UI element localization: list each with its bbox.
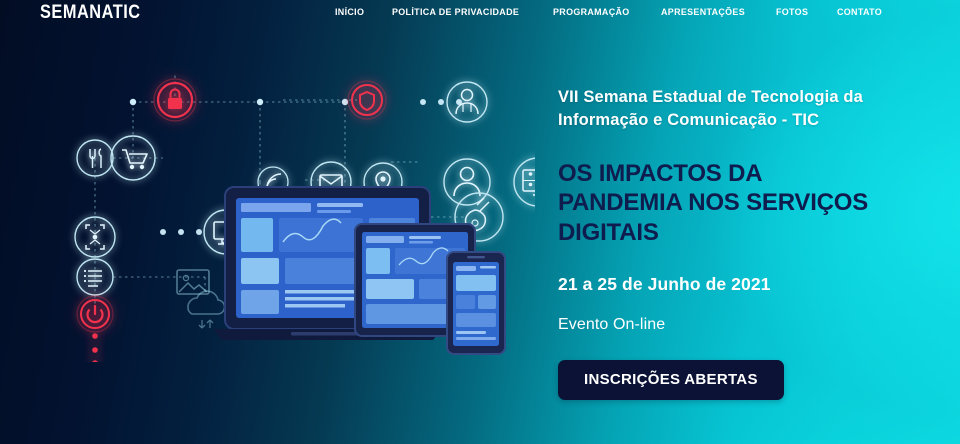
nav-item-politica-de-privacidade[interactable]: POLÍTICA DE PRIVACIDADE xyxy=(392,7,519,18)
nav-item-inicio[interactable]: INÍCIO xyxy=(335,7,364,18)
title-line-3: DIGITAIS xyxy=(558,219,659,246)
hero-text-block: VII Semana Estadual de Tecnologia da Inf… xyxy=(558,86,938,400)
power-dots xyxy=(92,333,98,362)
site-header: SEMANATIC INÍCIO POLÍTICA DE PRIVACIDADE… xyxy=(0,0,960,30)
doctor-icon xyxy=(447,82,487,122)
cloud-icon xyxy=(188,291,225,328)
main-navigation: INÍCIO POLÍTICA DE PRIVACIDADE PROGRAMAÇ… xyxy=(335,7,884,18)
page-title: OS IMPACTOS DA PANDEMIA NOS SERVIÇOS DIG… xyxy=(558,159,938,248)
title-line-1: OS IMPACTOS DA xyxy=(558,160,762,187)
nav-item-apresentacoes[interactable]: APRESENTAÇÕES xyxy=(661,7,745,18)
dot-sequence-right xyxy=(420,99,462,105)
lock-icon xyxy=(154,79,196,121)
dot-sequence-left xyxy=(160,229,202,235)
image-icon xyxy=(177,270,209,294)
video-conference-icon xyxy=(514,158,535,206)
kicker-line-1: VII Semana Estadual de Tecnologia da xyxy=(558,88,863,106)
event-date: 21 a 25 de Junho de 2021 xyxy=(558,274,938,295)
video-conference-grid xyxy=(523,170,535,195)
smartphone-device xyxy=(447,252,505,354)
site-logo[interactable]: SEMANATIC xyxy=(40,2,141,24)
event-mode: Evento On-line xyxy=(558,316,938,334)
shield-icon xyxy=(348,81,386,119)
event-kicker: VII Semana Estadual de Tecnologia da Inf… xyxy=(558,86,938,133)
nav-item-contato[interactable]: CONTATO xyxy=(837,7,882,18)
landing-page-hero: SEMANATIC INÍCIO POLÍTICA DE PRIVACIDADE… xyxy=(0,0,960,444)
hero-illustration xyxy=(55,62,535,362)
kicker-line-2: Informação e Comunicação - TIC xyxy=(558,111,819,129)
nav-item-programacao[interactable]: PROGRAMAÇÃO xyxy=(553,7,630,18)
nav-item-fotos[interactable]: FOTOS xyxy=(776,7,808,18)
title-line-2: PANDEMIA NOS SERVIÇOS xyxy=(558,189,868,216)
registration-open-button[interactable]: INSCRIÇÕES ABERTAS xyxy=(558,360,784,400)
